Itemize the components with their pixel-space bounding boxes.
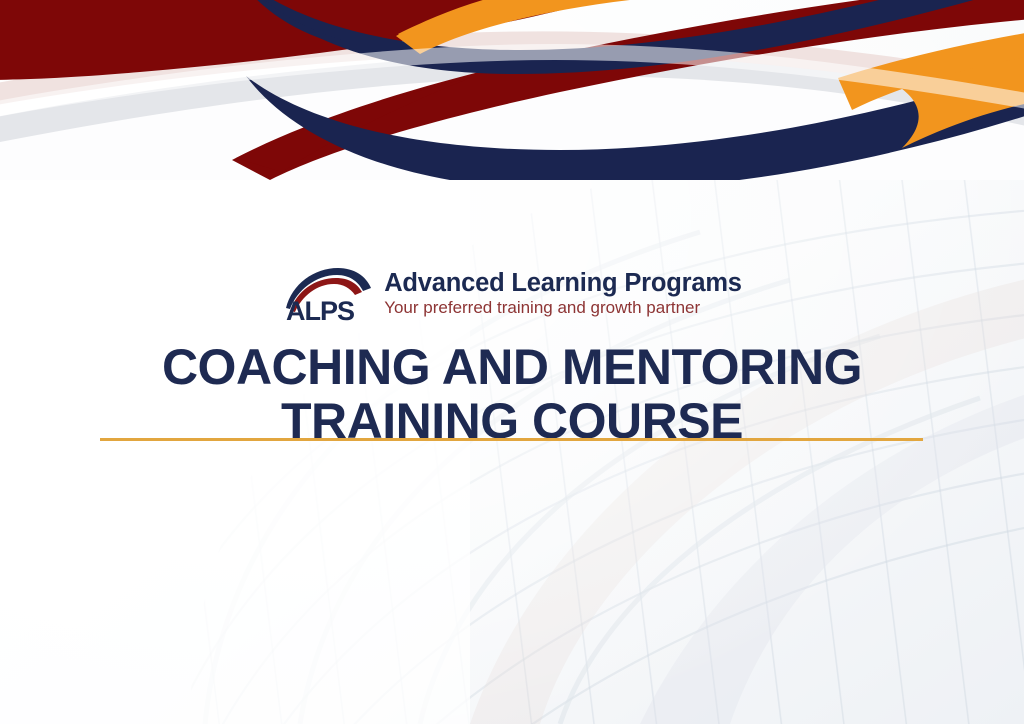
brand-text-block: Advanced Learning Programs Your preferre…: [384, 268, 742, 318]
wave-maroon-left: [0, 0, 660, 80]
course-title-slide: ALPS Advanced Learning Programs Your pre…: [0, 0, 1024, 724]
slide-content: ALPS Advanced Learning Programs Your pre…: [0, 262, 1024, 448]
page-title: COACHING AND MENTORING TRAINING COURSE: [162, 340, 862, 448]
page-title-line-1: COACHING AND MENTORING: [162, 340, 862, 394]
wave-pale-gray: [0, 53, 1024, 180]
svg-text:ALPS: ALPS: [286, 296, 354, 322]
wave-navy-main: [246, 62, 1024, 180]
wave-pale-pink: [0, 31, 1024, 108]
wave-maroon-tip: [236, 78, 470, 172]
brand-logo-lockup: ALPS Advanced Learning Programs Your pre…: [282, 262, 742, 324]
wave-orange-right: [870, 34, 1024, 148]
brand-name: Advanced Learning Programs: [384, 270, 742, 298]
wave-maroon-ribbon: [232, 0, 1024, 180]
top-wave-banner: [0, 0, 1024, 180]
gold-divider-rule: [100, 438, 923, 441]
wave-orange-centre: [398, 0, 648, 46]
alps-arc-logo-icon: ALPS: [282, 264, 374, 322]
wave-navy-upper: [252, 0, 1024, 74]
brand-tagline: Your preferred training and growth partn…: [384, 298, 742, 318]
wave-orange-centre-body: [396, 0, 700, 54]
wave-navy-upper-tip: [246, 0, 400, 54]
